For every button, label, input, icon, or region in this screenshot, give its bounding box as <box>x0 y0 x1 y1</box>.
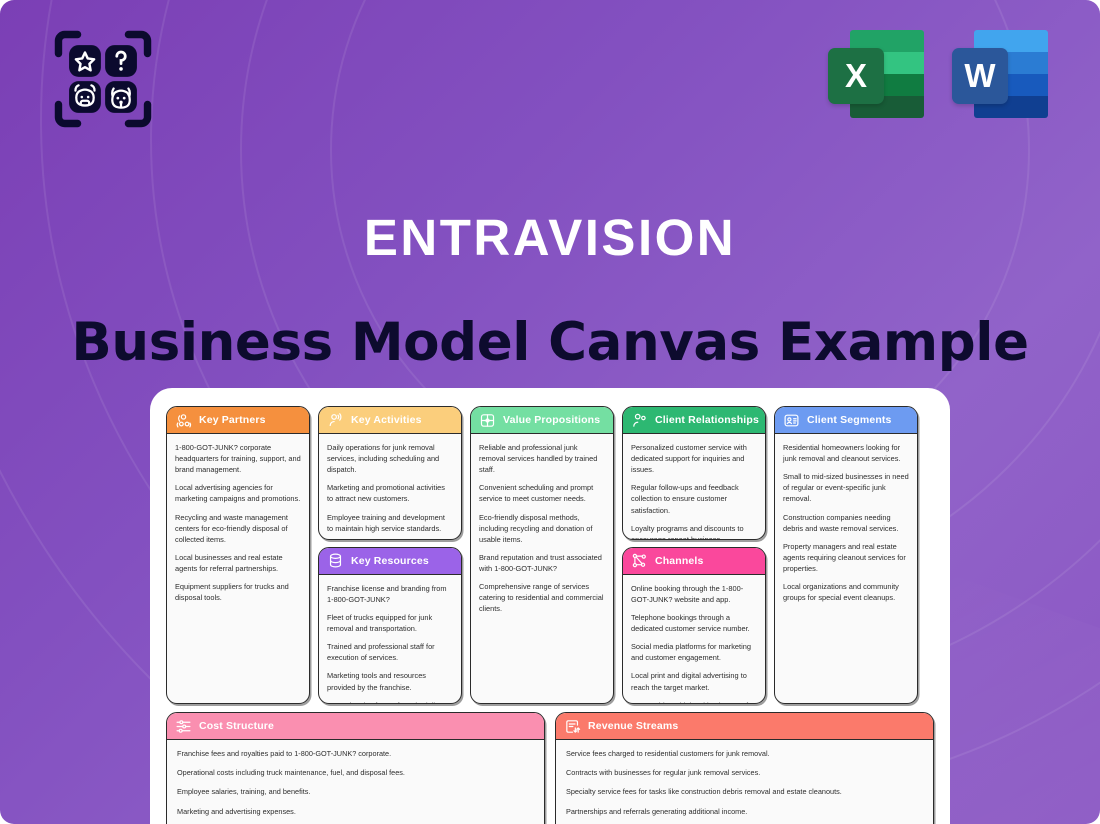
office-app-icons: X W <box>828 28 1048 122</box>
block-header: Cost Structure <box>167 713 544 740</box>
canvas-bottom-row: Cost Structure Franchise fees and royalt… <box>166 712 934 824</box>
block-item: Convenient scheduling and prompt service… <box>479 482 605 504</box>
block-item: Trained and professional staff for execu… <box>327 641 453 663</box>
block-item: Social media platforms for marketing and… <box>631 641 757 663</box>
block-body: Personalized customer service with dedic… <box>623 434 765 539</box>
block-title: Key Resources <box>351 555 429 567</box>
scan-pets-logo-icon <box>50 26 156 132</box>
block-item: Local print and digital advertising to r… <box>631 670 757 692</box>
block-body: 1-800-GOT-JUNK? corporate headquarters f… <box>167 434 309 703</box>
block-item: Fleet of trucks equipped for junk remova… <box>327 612 453 634</box>
block-title: Key Activities <box>351 414 422 426</box>
block-header: Channels <box>623 548 765 575</box>
block-item: Construction companies needing debris an… <box>783 512 909 534</box>
block-item: Marketing tools and resources provided b… <box>327 670 453 692</box>
network-icon <box>631 552 648 569</box>
block-title: Revenue Streams <box>588 720 678 732</box>
block-body: Franchise license and branding from 1-80… <box>319 575 461 703</box>
block-item: Marketing and advertising expenses. <box>177 807 534 817</box>
relationships-icon <box>631 412 648 429</box>
block-item: Partnerships and referrals generating ad… <box>566 807 923 817</box>
block-item: Eco-friendly disposal methods, including… <box>479 512 605 545</box>
block-title: Channels <box>655 555 703 567</box>
block-item: Recycling and waste management centers f… <box>175 512 301 545</box>
id-card-icon <box>783 412 800 429</box>
block-header: Client Relationships <box>623 407 765 434</box>
block-item: Local advertising agencies for marketing… <box>175 482 301 504</box>
receipt-icon <box>564 718 581 735</box>
block-item: Comprehensive range of services catering… <box>479 581 605 614</box>
canvas-block-key-resources[interactable]: Key Resources Franchise license and bran… <box>318 547 462 704</box>
block-item: Operational costs including truck mainte… <box>177 768 534 778</box>
canvas-block-client-relationships[interactable]: Client Relationships Personalized custom… <box>622 406 766 540</box>
block-header: Key Activities <box>319 407 461 434</box>
block-item: Daily operations for junk removal servic… <box>327 442 453 475</box>
block-item: Operational software for scheduling, rou… <box>327 700 453 703</box>
block-item: Local organizations and community groups… <box>783 581 909 603</box>
block-item: Property managers and real estate agents… <box>783 541 909 574</box>
block-title: Client Relationships <box>655 414 759 426</box>
canvas-top-row: Key Partners 1-800-GOT-JUNK? corporate h… <box>166 406 934 704</box>
brand-title: ENTRAVISION <box>0 208 1100 267</box>
word-icon-letter: W <box>952 48 1008 104</box>
page-title: Business Model Canvas Example <box>0 312 1100 373</box>
block-header: Key Partners <box>167 407 309 434</box>
block-item: Regular follow-ups and feedback collecti… <box>631 482 757 515</box>
block-item: Residential homeowners looking for junk … <box>783 442 909 464</box>
word-icon: W <box>952 28 1048 122</box>
block-item: Franchise fees and royalties paid to 1-8… <box>177 749 534 759</box>
canvas-block-channels[interactable]: Channels Online booking through the 1-80… <box>622 547 766 704</box>
gift-icon <box>479 412 496 429</box>
canvas-block-key-activities[interactable]: Key Activities Daily operations for junk… <box>318 406 462 540</box>
partners-icon <box>175 412 192 429</box>
block-header: Key Resources <box>319 548 461 575</box>
block-header: Value Propositions <box>471 407 613 434</box>
excel-icon: X <box>828 28 924 122</box>
block-item: Reliable and professional junk removal s… <box>479 442 605 475</box>
block-item: Employee training and development to mai… <box>327 512 453 534</box>
block-item: 1-800-GOT-JUNK? corporate headquarters f… <box>175 442 301 475</box>
sliders-icon <box>175 718 192 735</box>
canvas-column-client-relationships: Client Relationships Personalized custom… <box>622 406 766 704</box>
block-item: Marketing and promotional activities to … <box>327 482 453 504</box>
poster-canvas: X W ENTRAVISION Business Model Canvas Ex… <box>0 0 1100 824</box>
block-body: Online booking through the 1-800-GOT-JUN… <box>623 575 765 703</box>
block-item: Contracts with businesses for regular ju… <box>566 768 923 778</box>
excel-icon-letter: X <box>828 48 884 104</box>
block-item: Small to mid-sized businesses in need of… <box>783 471 909 504</box>
block-body: Service fees charged to residential cust… <box>556 740 933 824</box>
block-item: Specialty service fees for tasks like co… <box>566 787 923 797</box>
block-body: Daily operations for junk removal servic… <box>319 434 461 539</box>
business-model-canvas-sheet: Key Partners 1-800-GOT-JUNK? corporate h… <box>150 388 950 824</box>
block-item: Franchise license and branding from 1-80… <box>327 583 453 605</box>
database-icon <box>327 552 344 569</box>
canvas-column-key-activities: Key Activities Daily operations for junk… <box>318 406 462 704</box>
canvas-block-key-partners[interactable]: Key Partners 1-800-GOT-JUNK? corporate h… <box>166 406 310 704</box>
block-item: Employee salaries, training, and benefit… <box>177 787 534 797</box>
block-header: Revenue Streams <box>556 713 933 740</box>
block-item: Telephone bookings through a dedicated c… <box>631 612 757 634</box>
canvas-column-value-propositions: Value Propositions Reliable and professi… <box>470 406 614 704</box>
block-item: Local businesses and real estate agents … <box>175 552 301 574</box>
block-item: Service fees charged to residential cust… <box>566 749 923 759</box>
block-body: Franchise fees and royalties paid to 1-8… <box>167 740 544 824</box>
canvas-block-value-propositions[interactable]: Value Propositions Reliable and professi… <box>470 406 614 704</box>
block-title: Key Partners <box>199 414 266 426</box>
block-item: Equipment suppliers for trucks and dispo… <box>175 581 301 603</box>
block-header: Client Segments <box>775 407 917 434</box>
canvas-block-client-segments[interactable]: Client Segments Residential homeowners l… <box>774 406 918 704</box>
canvas-column-key-partners: Key Partners 1-800-GOT-JUNK? corporate h… <box>166 406 310 704</box>
canvas-column-client-segments: Client Segments Residential homeowners l… <box>774 406 918 704</box>
block-item: Partnerships with local businesses for c… <box>631 700 757 703</box>
block-body: Reliable and professional junk removal s… <box>471 434 613 703</box>
block-item: Online booking through the 1-800-GOT-JUN… <box>631 583 757 605</box>
activities-icon <box>327 412 344 429</box>
block-title: Client Segments <box>807 414 892 426</box>
block-item: Brand reputation and trust associated wi… <box>479 552 605 574</box>
canvas-block-cost-structure[interactable]: Cost Structure Franchise fees and royalt… <box>166 712 545 824</box>
block-item: Personalized customer service with dedic… <box>631 442 757 475</box>
block-title: Cost Structure <box>199 720 274 732</box>
block-item: Loyalty programs and discounts to encour… <box>631 523 757 539</box>
block-title: Value Propositions <box>503 414 600 426</box>
canvas-block-revenue-streams[interactable]: Revenue Streams Service fees charged to … <box>555 712 934 824</box>
block-body: Residential homeowners looking for junk … <box>775 434 917 703</box>
